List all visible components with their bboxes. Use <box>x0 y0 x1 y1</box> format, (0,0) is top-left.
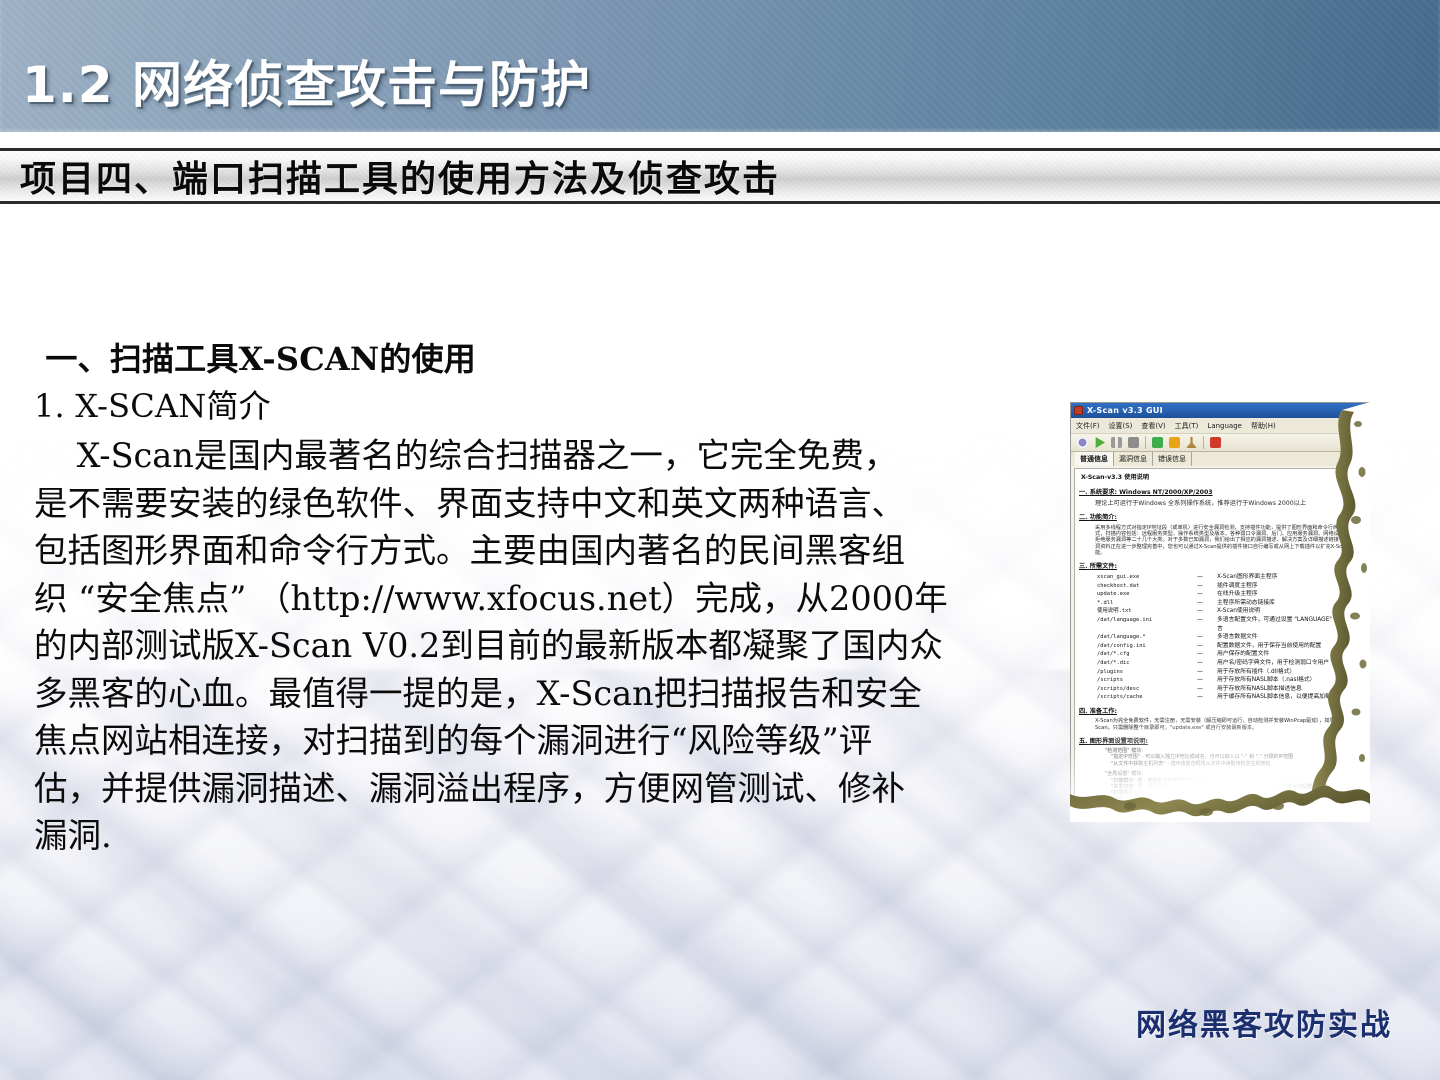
toolbar-separator <box>1145 436 1146 449</box>
section-number: 五. <box>1079 738 1088 745</box>
paragraph-line: 是不需要安装的绿色软件、界面支持中文和英文两种语言、 <box>34 480 1034 528</box>
file-row: /dat/*.dic—用户名/密码字典文件，用于检测弱口令用户 <box>1097 659 1361 668</box>
file-name: /scripts/cache <box>1097 693 1183 702</box>
body-heading-2: 1. X-SCAN简介 <box>34 382 1034 430</box>
file-row: /dat/language.*—多语言数据文件 <box>1097 633 1361 642</box>
file-desc: 在线升级主程序 <box>1217 590 1361 599</box>
section-title: 所需文件: <box>1090 563 1117 570</box>
file-name: /dat/language.ini <box>1097 616 1183 633</box>
paragraph-line: 的内部测试版X-Scan V0.2到目前的最新版本都凝聚了国内众 <box>34 622 1034 670</box>
file-name: xscan_gui.exe <box>1097 573 1183 582</box>
file-desc: 用于缓存所有NASL脚本信息，以便提高加载速度 <box>1217 693 1361 702</box>
file-desc: 配置数据文件，用于保存当前使用的配置 <box>1217 642 1361 651</box>
start-scan-icon[interactable] <box>1094 437 1105 448</box>
file-desc: 用于存放所有NASL脚本描述信息 <box>1217 685 1361 694</box>
presentation-slide: 1.2 网络侦查攻击与防护 项目四、端口扫描工具的使用方法及侦查攻击 一、扫描工… <box>0 0 1440 1080</box>
file-dash: — <box>1183 607 1217 616</box>
doc-section-heading: 一. 系统要求: Windows NT/2000/XP/2003 <box>1079 489 1361 497</box>
subtitle-bar: 项目四、端口扫描工具的使用方法及侦查攻击 <box>0 148 1440 204</box>
xscan-window-title: X-Scan v3.3 GUI <box>1087 406 1163 415</box>
file-dash: — <box>1183 659 1217 668</box>
page-title: 1.2 网络侦查攻击与防护 <box>22 56 591 114</box>
file-desc: 主程序所需动态链接库 <box>1217 599 1361 608</box>
doc-section-heading: 五. 图形界面设置项说明: <box>1079 738 1361 746</box>
file-dash: — <box>1183 650 1217 659</box>
section-number: 一. <box>1079 489 1088 496</box>
paragraph-line: 估，并提供漏洞描述、漏洞溢出程序，方便网管测试、修补 <box>34 765 1034 813</box>
file-name: /dat/language.* <box>1097 633 1183 642</box>
file-dash: — <box>1183 676 1217 685</box>
paragraph-line: 包括图形界面和命令行方式。主要由国内著名的民间黑客组 <box>34 527 1034 575</box>
menu-item-view[interactable]: 查看(V) <box>1141 421 1165 431</box>
section-number: 三. <box>1079 563 1088 570</box>
doc-section-heading: 三. 所需文件: <box>1079 563 1361 571</box>
paragraph-line: 漏洞. <box>34 812 1034 860</box>
slide-footer: 网络黑客攻防实战 <box>1136 1000 1392 1044</box>
file-desc: 多语言数据文件 <box>1217 633 1361 642</box>
tab-general-info[interactable]: 普通信息 <box>1075 452 1114 466</box>
doc-section-heading: 二. 功能简介: <box>1079 514 1361 522</box>
tools-icon[interactable] <box>1186 437 1197 448</box>
file-dash: — <box>1183 633 1217 642</box>
file-row: /dat/language.ini—多语言配置文件，可通过设置 "LANGUAG… <box>1097 616 1361 633</box>
file-desc: 用于存放所有插件（.dll格式） <box>1217 668 1361 677</box>
body-paragraph: X-Scan是国内最著名的综合扫描器之一，它完全免费， 是不需要安装的绿色软件、… <box>34 432 1034 860</box>
file-dash: — <box>1183 642 1217 651</box>
xscan-toolbar <box>1071 433 1369 452</box>
file-name: /dat/*.dic <box>1097 659 1183 668</box>
file-name: checkhost.dat <box>1097 582 1183 591</box>
file-dash: — <box>1183 599 1217 608</box>
section-body: 理论上可运行于Windows 全系列操作系统，推荐运行于Windows 2000… <box>1095 500 1361 508</box>
toolbar-separator <box>1203 436 1204 449</box>
paragraph-line: 织 “安全焦点” （http://www.xfocus.net）完成，从2000… <box>34 575 1034 623</box>
subtitle-text: 项目四、端口扫描工具的使用方法及侦查攻击 <box>20 150 780 202</box>
file-row: xscan_gui.exe—X-Scan图形界面主程序 <box>1097 573 1361 582</box>
file-desc: 用户名/密码字典文件，用于检测弱口令用户 <box>1217 659 1361 668</box>
file-row: *.dll—主程序所需动态链接库 <box>1097 599 1361 608</box>
file-dash: — <box>1183 668 1217 677</box>
xscan-title-bar: X-Scan v3.3 GUI <box>1071 403 1369 418</box>
file-desc: 多语言配置文件，可通过设置 "LANGUAGE" 项选择语言 <box>1217 616 1361 633</box>
paragraph-line: X-Scan是国内最著名的综合扫描器之一，它完全免费， <box>34 432 1034 480</box>
app-icon <box>1074 406 1083 415</box>
file-desc: 用于存放所有NASL脚本（.nasl格式） <box>1217 676 1361 685</box>
file-name: /scripts <box>1097 676 1183 685</box>
required-files-list: xscan_gui.exe—X-Scan图形界面主程序 checkhost.da… <box>1097 573 1361 702</box>
file-name: *.dll <box>1097 599 1183 608</box>
xscan-window: X-Scan v3.3 GUI 文件(F) 设置(S) 查看(V) 工具(T) … <box>1070 402 1370 822</box>
menu-item-settings[interactable]: 设置(S) <box>1109 421 1133 431</box>
file-dash: — <box>1183 685 1217 694</box>
stop-scan-icon[interactable] <box>1128 437 1139 448</box>
file-name: 使用说明.txt <box>1097 607 1183 616</box>
paragraph-line: 多黑客的心血。最值得一提的是，X-Scan把扫描报告和安全 <box>34 670 1034 718</box>
file-desc: 用户保存的配置文件 <box>1217 650 1361 659</box>
section-body: X-Scan为完全免费软件，无需注册，无需安装（解压缩即可运行，自动检测并安装W… <box>1095 718 1361 731</box>
file-name: /plugins <box>1097 668 1183 677</box>
section-number: 二. <box>1079 514 1088 521</box>
paragraph-line: 焦点网站相连接，对扫描到的每个漏洞进行“风险等级”评 <box>34 717 1034 765</box>
xscan-menu-bar: 文件(F) 设置(S) 查看(V) 工具(T) Language 帮助(H) <box>1071 418 1369 433</box>
report-icon[interactable] <box>1169 437 1180 448</box>
file-row: /scripts/desc—用于存放所有NASL脚本描述信息 <box>1097 685 1361 694</box>
section-title: 系统要求: Windows NT/2000/XP/2003 <box>1090 489 1213 496</box>
file-row: checkhost.dat—插件调度主程序 <box>1097 582 1361 591</box>
file-name: /dat/config.ini <box>1097 642 1183 651</box>
file-dash: — <box>1183 590 1217 599</box>
doc-section-heading: 四. 准备工作: <box>1079 708 1361 716</box>
menu-item-tools[interactable]: 工具(T) <box>1175 421 1199 431</box>
settings-desc-line: "其他设置" 项 - 设置扫描过程中的其他选项 <box>1111 797 1361 803</box>
file-dash: — <box>1183 573 1217 582</box>
file-row: /dat/*.cfg—用户保存的配置文件 <box>1097 650 1361 659</box>
file-dash: — <box>1183 693 1217 702</box>
doc-title: X-Scan-v3.3 使用说明 <box>1081 474 1361 482</box>
section-body: 采用多线程方式对指定IP地址段（或单机）进行安全漏洞检测，支持插件功能，提供了图… <box>1095 525 1361 557</box>
slide-body-text: 一、扫描工具X-SCAN的使用 1. X-SCAN简介 X-Scan是国内最著名… <box>34 336 1034 860</box>
file-name: /dat/*.cfg <box>1097 650 1183 659</box>
file-name: /scripts/desc <box>1097 685 1183 694</box>
xscan-content-pane[interactable]: X-Scan-v3.3 使用说明 一. 系统要求: Windows NT/200… <box>1074 468 1366 818</box>
body-heading-1: 一、扫描工具X-SCAN的使用 <box>34 336 1034 382</box>
xscan-screenshot-image: X-Scan v3.3 GUI 文件(F) 设置(S) 查看(V) 工具(T) … <box>1070 402 1370 822</box>
file-row: /scripts/cache—用于缓存所有NASL脚本信息，以便提高加载速度 <box>1097 693 1361 702</box>
file-row: /dat/config.ini—配置数据文件，用于保存当前使用的配置 <box>1097 642 1361 651</box>
file-row: /scripts—用于存放所有NASL脚本（.nasl格式） <box>1097 676 1361 685</box>
file-row: 使用说明.txt—X-Scan使用说明 <box>1097 607 1361 616</box>
file-desc: 插件调度主程序 <box>1217 582 1361 591</box>
file-row: /plugins—用于存放所有插件（.dll格式） <box>1097 668 1361 677</box>
tab-vulnerability-info[interactable]: 漏洞信息 <box>1114 452 1153 466</box>
file-desc: X-Scan使用说明 <box>1217 607 1361 616</box>
menu-item-language[interactable]: Language <box>1207 422 1242 430</box>
scan-params-icon[interactable] <box>1077 437 1088 448</box>
file-name: update.exe <box>1097 590 1183 599</box>
section-title: 功能简介: <box>1090 514 1117 521</box>
menu-item-help[interactable]: 帮助(H) <box>1251 421 1276 431</box>
section-number: 四. <box>1079 708 1088 715</box>
exit-icon[interactable] <box>1210 437 1221 448</box>
file-desc: X-Scan图形界面主程序 <box>1217 573 1361 582</box>
refresh-icon[interactable] <box>1152 437 1163 448</box>
file-dash: — <box>1183 582 1217 591</box>
tab-error-info[interactable]: 错误信息 <box>1153 452 1192 466</box>
section-title: 图形界面设置项说明: <box>1090 738 1148 745</box>
file-row: update.exe—在线升级主程序 <box>1097 590 1361 599</box>
menu-item-file[interactable]: 文件(F) <box>1076 421 1100 431</box>
xscan-tab-row: 普通信息 漏洞信息 错误信息 <box>1071 452 1369 466</box>
pause-scan-icon[interactable] <box>1111 437 1122 448</box>
slide-header-banner: 1.2 网络侦查攻击与防护 <box>0 0 1440 132</box>
file-dash: — <box>1183 616 1217 633</box>
section-title: 准备工作: <box>1090 708 1117 715</box>
settings-desc-line: "从文件中获取主机列表" - 选中该复选框将从文件中读取待检测主机地址 <box>1111 761 1361 767</box>
